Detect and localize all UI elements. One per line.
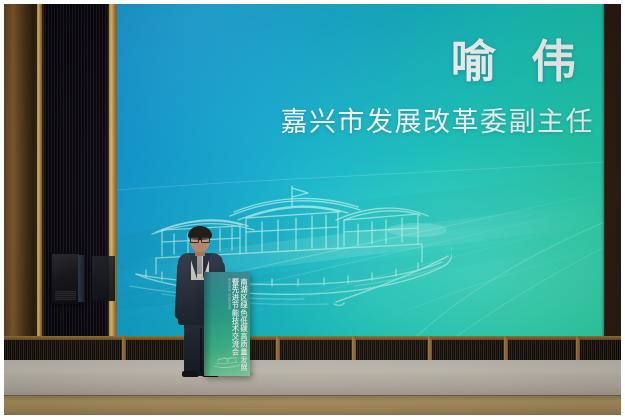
stage-front-edge: [4, 396, 621, 415]
podium-boat-emblem-icon: [212, 356, 242, 370]
screen-speaker-title: 嘉兴市发展改革委副主任: [117, 109, 594, 136]
screen-speaker-name: 喻 伟: [117, 40, 588, 85]
speaker-lapel-left: [189, 254, 197, 279]
speaker-left-shoe: [182, 371, 199, 377]
podium-lectern: 南湖区绿色低碳高质量发展 暨先进节能技术交流会 绿色低碳 高质量发展: [204, 272, 250, 376]
speaker-collar-shadow: [197, 256, 202, 274]
podium-headline-line-2: 暨先进节能技术交流会: [231, 278, 239, 356]
screen-right-edge-shadow: [601, 4, 604, 336]
podium-signage-text: 南湖区绿色低碳高质量发展 暨先进节能技术交流会 绿色低碳 高质量发展: [213, 278, 247, 356]
wall-loudspeaker: [51, 253, 80, 304]
photo-frame: 喻 伟 嘉兴市发展改革委副主任: [0, 0, 625, 420]
speaker-leg-separation: [200, 328, 202, 372]
loudspeaker-side-panel: [78, 255, 84, 302]
back-wall-top-trim: [4, 336, 621, 340]
podium-side-note: 绿色低碳 高质量发展: [227, 278, 230, 356]
stage-floor-highlight: [4, 360, 621, 378]
eyeglasses-icon: [190, 237, 210, 241]
podium-headline-line-1: 南湖区绿色低碳高质量发展: [239, 278, 247, 356]
stage-photograph: 喻 伟 嘉兴市发展改革委副主任: [4, 4, 621, 415]
podium-side-shadow: [204, 272, 212, 376]
wall-loudspeaker-secondary: [92, 256, 115, 301]
